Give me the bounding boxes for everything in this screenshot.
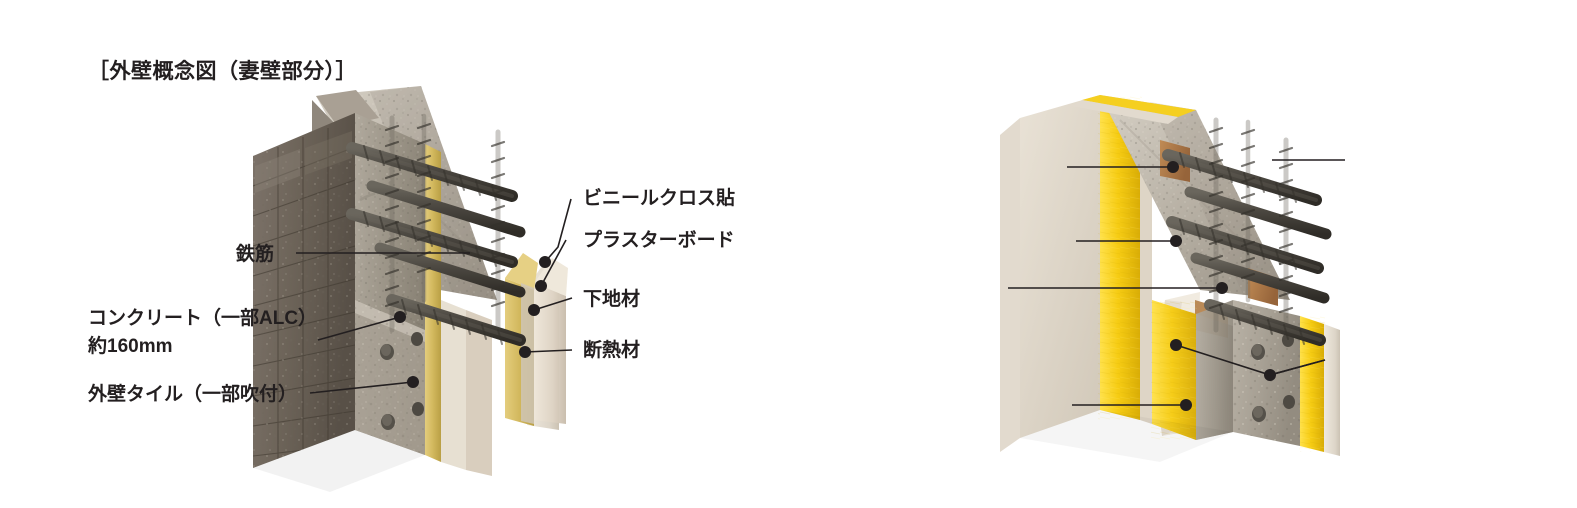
panel-title-exterior: ［外壁概念図（妻壁部分）］ [88,55,357,85]
label-plaster-board-exterior: プラスターボード [583,228,735,254]
label-vinyl-cloth-exterior: ビニールクロス貼 [583,186,735,212]
label-concrete-exterior-sub: 約160mm [88,333,317,361]
label-concrete-exterior: コンクリート（一部ALC） 約160mm [88,305,317,360]
label-insulation-exterior: 断熱材 [583,338,640,364]
label-exterior-tile: 外壁タイル（一部吹付） [88,382,297,408]
label-rebar-exterior: 鉄筋 [236,242,274,268]
label-base-material-exterior: 下地材 [583,287,640,313]
panel-exterior-wall: ［外壁概念図（妻壁部分）］ ビニールクロス貼 プラスターボード 下地材 断熱材 … [0,0,800,508]
panel-party-wall: ［戸境壁概念図］ 下地材 グラスウール（一部なし） コンクリート壁厚 約200〜… [770,0,1577,508]
label-concrete-exterior-main: コンクリート（一部ALC） [88,308,317,329]
diagram-page: ［外壁概念図（妻壁部分）］ ビニールクロス貼 プラスターボード 下地材 断熱材 … [0,0,1577,508]
